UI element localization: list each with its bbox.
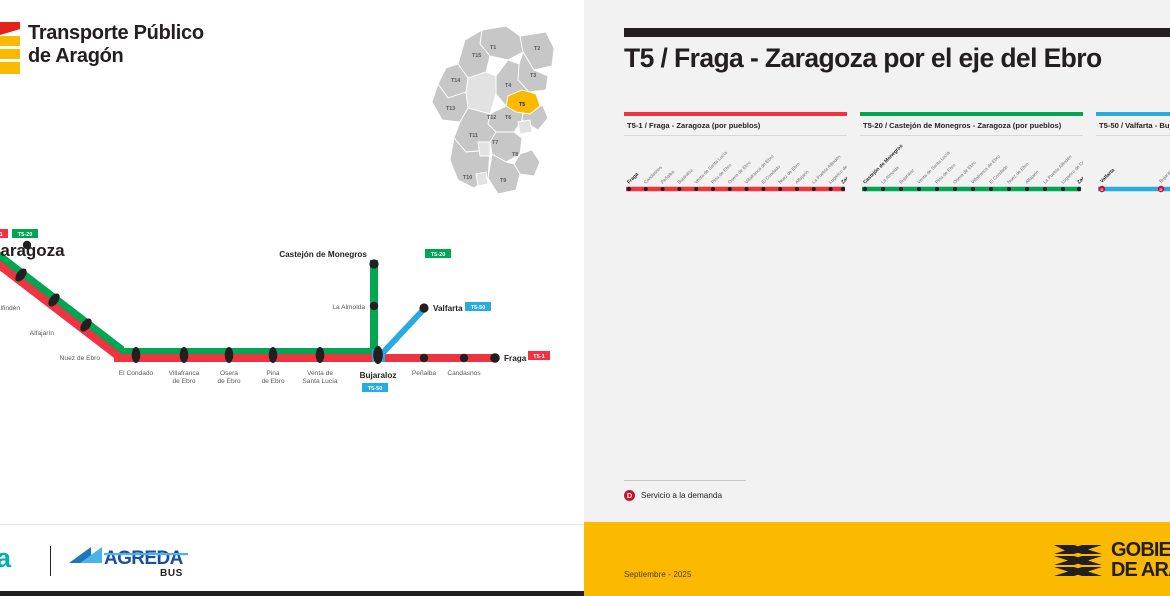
svg-text:T13: T13 <box>446 106 455 112</box>
strip1-stop-2: Peñalba <box>660 169 676 185</box>
diagram-stop-la-almolda: La Almolda <box>332 304 365 311</box>
route-strip-t5-50[interactable]: T5-50 / Valfarta - Bujaraloz D D Valfart… <box>1096 112 1170 194</box>
brand-logo: Transporte Público de Aragón <box>0 22 204 74</box>
svg-text:sa: sa <box>0 543 12 573</box>
strip-body-t5-20: Castejón de Monegros La Almolda Bujaralo… <box>860 136 1083 194</box>
footer-date: Septiembre - 2025 <box>624 570 692 579</box>
operator-logo-agreda: AGREDA BUS <box>67 543 192 579</box>
strip-label-t5-20: T5-20 / Castejón de Monegros - Zaragoza … <box>860 116 1083 136</box>
strip2-stop-9: Alfajarín <box>1024 169 1040 185</box>
diagram-stop-pina-1: Pina <box>266 370 280 377</box>
diagram-stop-castejon: Castejón de Monegros <box>279 250 367 259</box>
svg-text:T1: T1 <box>490 45 496 51</box>
strip3-stop-0: Valfarta <box>1099 167 1116 184</box>
diagram-badge-t5-1-zaragoza: T5-1 <box>0 229 8 238</box>
strip2-stop-3: Venta de Santa Lucía <box>916 150 951 185</box>
diagram-stop-fraga: Fraga <box>504 354 527 363</box>
svg-text:D: D <box>1160 187 1163 192</box>
strip3-stop-1: Bujaraloz (bajo demanda) <box>1158 143 1170 184</box>
svg-text:D: D <box>1101 187 1104 192</box>
diagram-stop-el-condado: El Condado <box>119 370 154 377</box>
svg-text:T11: T11 <box>469 133 478 139</box>
strip3-demand-marker-1: D <box>1158 186 1164 192</box>
left-footer: sa AGREDA BUS <box>0 524 584 596</box>
gobierno-mark-icon <box>1052 542 1104 580</box>
svg-text:AGREDA: AGREDA <box>104 548 184 569</box>
svg-text:T5-50: T5-50 <box>368 386 383 392</box>
aragon-flag-icon <box>0 22 20 74</box>
strip1-stop-11: La Puebla Alfindén <box>811 154 842 185</box>
strip2-stop-2: Bujaraloz <box>898 167 916 185</box>
diagram-stop-puebla: La Puebla Alfindén <box>0 305 20 312</box>
strip1-stop-10: Alfajarín <box>794 169 810 185</box>
strip-body-t5-1: Fraga Candasnos Peñalba Bujaraloz Venta … <box>624 136 847 194</box>
strip1-stop-0: Fraga <box>626 171 640 185</box>
svg-text:T5-20: T5-20 <box>18 232 33 238</box>
gobierno-aragon-logo: GOBIERNO DE ARAGÓN <box>1052 541 1170 580</box>
diagram-stop-candasnos: Candasnos <box>447 370 481 377</box>
logo-divider <box>50 546 51 576</box>
title-rule <box>624 28 1170 37</box>
right-footer: Septiembre - 2025 GOBIERNO DE ARAGÓN <box>584 522 1170 596</box>
left-page: Transporte Público de Aragón <box>0 0 584 596</box>
strip2-stop-6: Villafranca de Ebro <box>970 153 1001 184</box>
operator-logo-alosa: sa <box>0 541 36 580</box>
diagram-badge-t5-50-valfarta: T5-50 <box>465 302 491 311</box>
legend-row: D Servicio a la demanda <box>624 490 754 501</box>
svg-text:T8: T8 <box>512 152 518 158</box>
strip1-stop-3: Bujaraloz <box>677 167 695 185</box>
strip2-stop-10: La Puebla Alfindén <box>1042 154 1073 185</box>
diagram-stop-valfarta: Valfarta <box>433 304 463 313</box>
svg-text:T5-1: T5-1 <box>533 354 545 360</box>
route-diagram: Zaragoza Lugarico de Cerdán La Puebla Al… <box>0 225 584 400</box>
route-strips: T5-1 / Fraga - Zaragoza (por pueblos) <box>624 112 1170 194</box>
aragon-zone-map: T1 T2 T3 T4 T5 T6 T7 T8 T9 T10 T11 T12 T… <box>424 22 574 202</box>
strip-label-t5-1: T5-1 / Fraga - Zaragoza (por pueblos) <box>624 116 847 136</box>
demand-badge-icon: D <box>624 490 635 501</box>
diagram-stop-alfajarin: Alfajarín <box>30 330 55 337</box>
diagram-stop-osera-2: de Ebro <box>217 378 240 385</box>
diagram-stop-villafranca-2: de Ebro <box>172 378 195 385</box>
legend: D Servicio a la demanda <box>624 480 754 501</box>
gob-line1: GOBIERNO <box>1111 541 1170 561</box>
diagram-stop-venta-1: Venta de <box>307 370 333 377</box>
diagram-badge-t5-1-fraga: T5-1 <box>528 351 550 360</box>
diagram-stop-penalba: Peñalba <box>412 370 437 377</box>
svg-text:T2: T2 <box>534 46 540 52</box>
svg-text:T15: T15 <box>472 53 481 59</box>
diagram-stop-villafranca-1: Villafranca <box>169 370 200 377</box>
svg-text:T4: T4 <box>505 83 511 89</box>
diagram-badge-t5-50-bujaraloz: T5-50 <box>362 383 388 392</box>
gobierno-aragon-text: GOBIERNO DE ARAGÓN <box>1111 541 1170 580</box>
left-bottom-rule <box>0 591 584 596</box>
diagram-stop-osera-1: Osera <box>220 370 238 377</box>
diagram-stop-bujaraloz: Bujaraloz <box>360 371 397 380</box>
svg-text:BUS: BUS <box>160 568 183 579</box>
strip1-stop-7: Villafranca de Ebro <box>744 153 775 184</box>
diagram-stop-nuez: Nuez de Ebro <box>60 355 101 362</box>
strip-label-t5-50: T5-50 / Valfarta - Bujaraloz <box>1096 116 1170 136</box>
brand-title-line1: Transporte Público <box>28 22 204 45</box>
strip3-demand-marker-0: D <box>1099 186 1105 192</box>
strip-body-t5-50: D D Valfarta Bujaraloz (bajo demanda) <box>1096 136 1170 194</box>
diagram-stop-pina-2: de Ebro <box>261 378 284 385</box>
diagram-badge-t5-20-zaragoza: T5-20 <box>12 229 38 238</box>
legend-text: Servicio a la demanda <box>641 491 722 500</box>
svg-text:T12: T12 <box>487 115 496 121</box>
diagram-badge-t5-20-castejon: T5-20 <box>425 249 451 258</box>
svg-text:T3: T3 <box>530 73 536 79</box>
svg-text:T5-50: T5-50 <box>471 305 486 311</box>
svg-text:T6: T6 <box>505 115 511 121</box>
diagram-stop-venta-2: Santa Lucía <box>302 378 338 385</box>
svg-text:T14: T14 <box>451 78 460 84</box>
route-strip-t5-20[interactable]: T5-20 / Castejón de Monegros - Zaragoza … <box>860 112 1083 194</box>
svg-text:T5-20: T5-20 <box>431 252 446 258</box>
svg-text:T7: T7 <box>492 140 498 146</box>
brand-title: Transporte Público de Aragón <box>28 22 204 68</box>
gob-line2: DE ARAGÓN <box>1111 561 1170 581</box>
right-page: T5 / Fraga - Zaragoza por el eje del Ebr… <box>584 0 1170 596</box>
svg-text:T10: T10 <box>463 175 472 181</box>
brand-title-line2: de Aragón <box>28 45 204 68</box>
diagram-label-zaragoza: Zaragoza <box>0 241 65 260</box>
page-title: T5 / Fraga - Zaragoza por el eje del Ebr… <box>624 43 1170 74</box>
svg-text:T9: T9 <box>500 178 506 184</box>
svg-text:T5-1: T5-1 <box>0 232 3 238</box>
route-strip-t5-1[interactable]: T5-1 / Fraga - Zaragoza (por pueblos) <box>624 112 847 194</box>
svg-text:T5: T5 <box>519 102 525 108</box>
legend-rule <box>624 480 746 481</box>
